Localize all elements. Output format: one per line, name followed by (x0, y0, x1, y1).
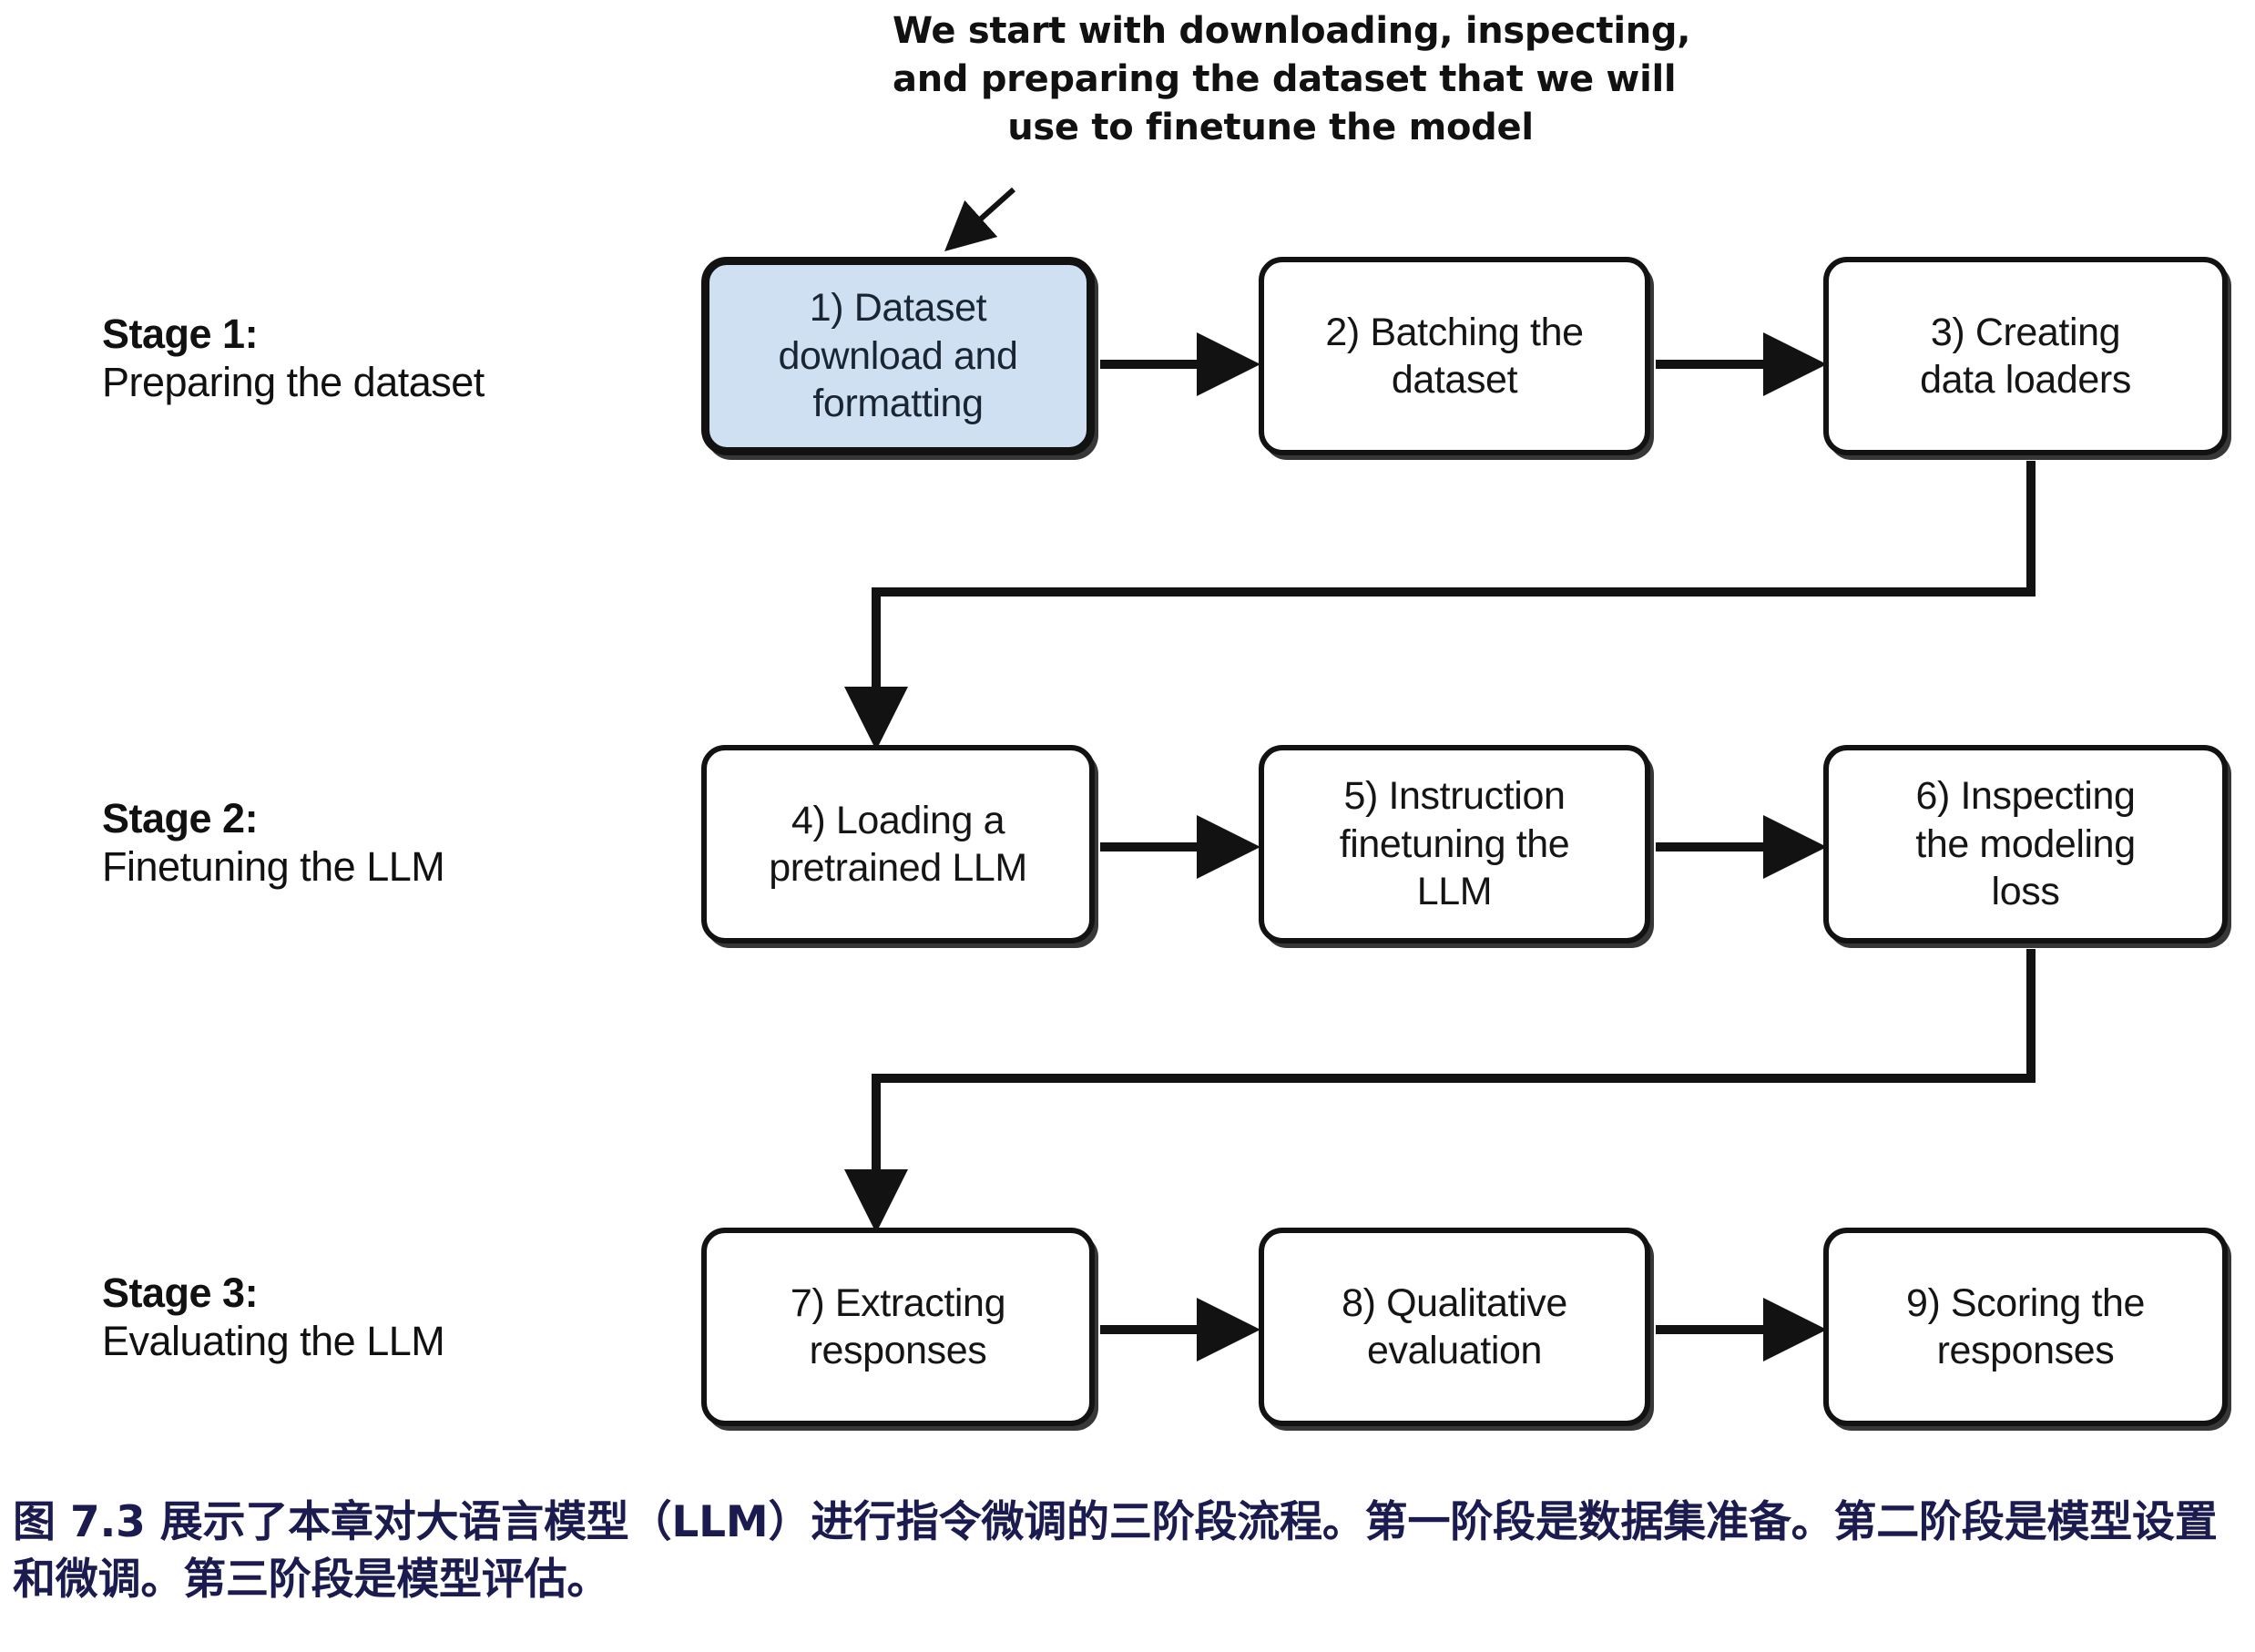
flow-box-step-5[interactable]: 5) Instruction finetuning the LLM (1259, 745, 1650, 943)
stage-label-2: Stage 2: Finetuning the LLM (102, 794, 667, 891)
step-7-line-2: responses (810, 1329, 987, 1372)
step-6-line-3: loss (1992, 870, 2060, 913)
step-8-line-2: evaluation (1367, 1329, 1542, 1372)
step-5-line-3: LLM (1417, 870, 1492, 913)
callout-line-1: We start with downloading, inspecting, (893, 7, 1648, 56)
flow-box-step-1-label: 1) Dataset download and formatting (779, 284, 1018, 427)
step-5-line-1: 5) Instruction (1344, 774, 1566, 818)
flow-box-step-6-label: 6) Inspecting the modeling loss (1915, 772, 2135, 915)
arrow-step3-to-step4 (876, 461, 2031, 734)
step-6-line-1: 6) Inspecting (1915, 774, 2135, 818)
flow-box-step-3-label: 3) Creating data loaders (1920, 309, 2131, 404)
stage-2-subtitle: Finetuning the LLM (102, 842, 667, 891)
callout-note: We start with downloading, inspecting, a… (893, 7, 1648, 153)
flow-box-step-6[interactable]: 6) Inspecting the modeling loss (1823, 745, 2228, 943)
flow-box-step-1[interactable]: 1) Dataset download and formatting (701, 257, 1095, 455)
arrow-step6-to-step7 (876, 949, 2031, 1217)
step-1-line-2: download and (779, 334, 1018, 378)
instruction-finetuning-flow-diagram: We start with downloading, inspecting, a… (0, 0, 2255, 1652)
step-2-line-2: dataset (1392, 358, 1517, 402)
step-1-line-1: 1) Dataset (810, 286, 986, 330)
callout-line-3: use to finetune the model (893, 104, 1648, 152)
step-2-line-1: 2) Batching the (1325, 311, 1583, 354)
step-7-line-1: 7) Extracting (791, 1281, 1005, 1325)
stage-label-3: Stage 3: Evaluating the LLM (102, 1269, 667, 1365)
step-3-line-1: 3) Creating (1931, 311, 2120, 354)
flow-box-step-3[interactable]: 3) Creating data loaders (1823, 257, 2228, 455)
step-3-line-2: data loaders (1920, 358, 2131, 402)
callout-line-2: and preparing the dataset that we will (893, 56, 1648, 104)
flow-box-step-5-label: 5) Instruction finetuning the LLM (1340, 772, 1570, 915)
step-4-line-2: pretrained LLM (769, 846, 1027, 890)
stage-label-1: Stage 1: Preparing the dataset (102, 310, 667, 406)
flow-box-step-9[interactable]: 9) Scoring the responses (1823, 1228, 2228, 1426)
step-6-line-2: the modeling (1915, 822, 2135, 866)
step-4-line-1: 4) Loading a (791, 799, 1005, 842)
flow-box-step-9-label: 9) Scoring the responses (1906, 1280, 2145, 1375)
figure-caption: 图 7.3 展示了本章对大语言模型（LLM）进行指令微调的三阶段流程。第一阶段是… (13, 1494, 2250, 1609)
step-1-line-3: formatting (812, 382, 983, 425)
flow-box-step-4[interactable]: 4) Loading a pretrained LLM (701, 745, 1095, 943)
flow-box-step-2-label: 2) Batching the dataset (1325, 309, 1583, 404)
stage-1-title: Stage 1: (102, 310, 667, 358)
flow-box-step-8-label: 8) Qualitative evaluation (1342, 1280, 1567, 1375)
flow-box-step-7-label: 7) Extracting responses (791, 1280, 1005, 1375)
stage-3-title: Stage 3: (102, 1269, 667, 1317)
step-8-line-1: 8) Qualitative (1342, 1281, 1567, 1325)
stage-1-subtitle: Preparing the dataset (102, 358, 667, 406)
step-9-line-2: responses (1937, 1329, 2115, 1372)
stage-2-title: Stage 2: (102, 794, 667, 842)
stage-3-subtitle: Evaluating the LLM (102, 1317, 667, 1365)
flow-box-step-7[interactable]: 7) Extracting responses (701, 1228, 1095, 1426)
step-5-line-2: finetuning the (1340, 822, 1570, 866)
flow-box-step-4-label: 4) Loading a pretrained LLM (769, 797, 1027, 892)
flow-box-step-8[interactable]: 8) Qualitative evaluation (1259, 1228, 1650, 1426)
callout-pointer-arrow-icon (953, 189, 1014, 244)
flow-box-step-2[interactable]: 2) Batching the dataset (1259, 257, 1650, 455)
step-9-line-1: 9) Scoring the (1906, 1281, 2145, 1325)
